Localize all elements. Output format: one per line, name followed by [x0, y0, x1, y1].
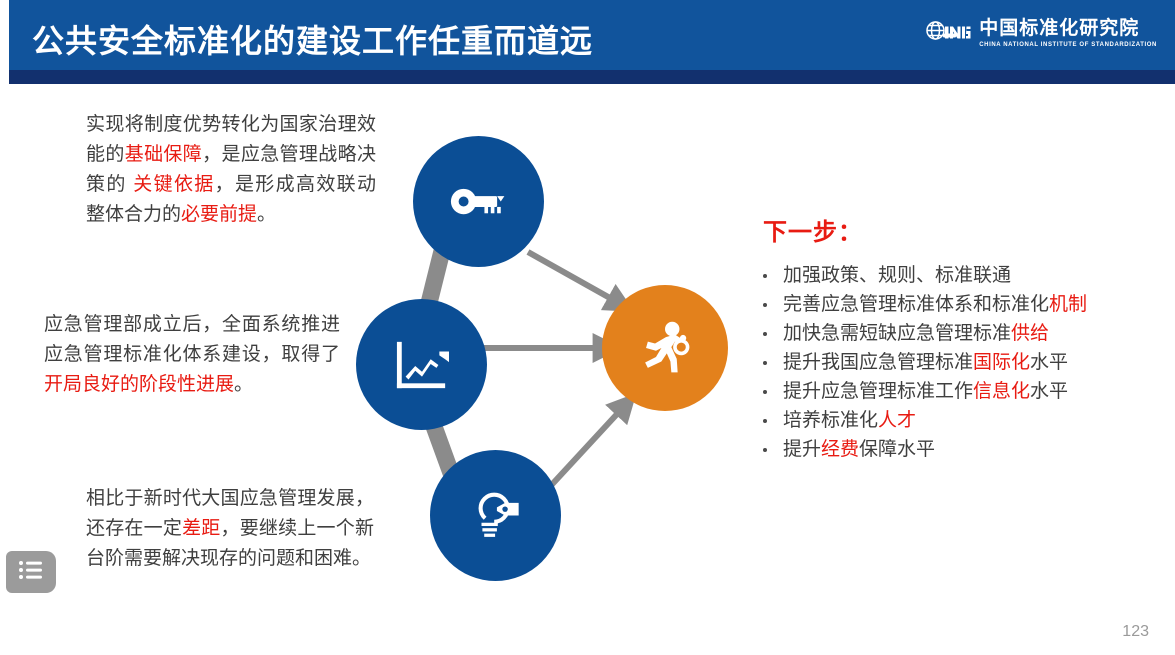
highlighted-text: 人才 — [878, 410, 916, 431]
growth-chart-icon — [393, 338, 451, 392]
plain-text: 。 — [234, 374, 253, 395]
list-item: 培养标准化人才 — [755, 406, 1165, 435]
process-diagram — [330, 100, 770, 620]
plain-text: 提升 — [783, 439, 821, 460]
key-icon — [450, 187, 508, 216]
highlighted-text: 基础保障 — [125, 144, 202, 165]
logo-english-name: CHINA NATIONAL INSTITUTE OF STANDARDIZAT… — [979, 42, 1157, 48]
lightbulb-tag-icon — [467, 489, 525, 542]
plain-text: 应急管理部成立后，全面系统推进应急管理标准化体系建设，取得了 — [44, 314, 340, 365]
next-steps-list: 加强政策、规则、标准联通完善应急管理标准体系和标准化机制加快急需短缺应急管理标准… — [755, 261, 1165, 464]
next-steps-heading: 下一步： — [763, 212, 1165, 247]
text-block-progress: 应急管理部成立后，全面系统推进应急管理标准化体系建设，取得了开局良好的阶段性进展… — [44, 310, 340, 400]
page-number: 123 — [1122, 623, 1149, 641]
plain-text: 完善应急管理标准体系和标准化 — [783, 294, 1049, 315]
plain-text: 加快急需短缺应急管理标准 — [783, 323, 1011, 344]
node-growth-chart[interactable] — [356, 299, 487, 430]
list-item: 提升我国应急管理标准国际化水平 — [755, 348, 1165, 377]
plain-text: 加强政策、规则、标准联通 — [783, 265, 1011, 286]
plain-text: 提升我国应急管理标准 — [783, 352, 973, 373]
page-title: 公共安全标准化的建设工作任重而道远 — [32, 16, 593, 62]
plain-text: 。 — [257, 204, 276, 225]
highlighted-text: 开局良好的阶段性进展 — [44, 374, 234, 395]
highlighted-text: 国际化 — [973, 352, 1030, 373]
running-person-icon — [636, 320, 694, 376]
list-item: 提升应急管理标准工作信息化水平 — [755, 377, 1165, 406]
list-item: 完善应急管理标准体系和标准化机制 — [755, 290, 1165, 319]
list-menu-button[interactable] — [6, 551, 56, 593]
plain-text: 水平 — [1030, 381, 1068, 402]
list-item: 加快急需短缺应急管理标准供给 — [755, 319, 1165, 348]
node-key[interactable] — [413, 136, 544, 267]
plain-text: 提升应急管理标准工作 — [783, 381, 973, 402]
header-left-edge — [0, 0, 9, 84]
highlighted-text: 机制 — [1049, 294, 1087, 315]
plain-text: 保障水平 — [859, 439, 935, 460]
node-lightbulb[interactable] — [430, 450, 561, 581]
highlighted-text: 信息化 — [973, 381, 1030, 402]
highlighted-text: 供给 — [1011, 323, 1049, 344]
plain-text: 培养标准化 — [783, 410, 878, 431]
logo-chinese-name: 中国标准化研究院 — [979, 19, 1157, 38]
header-underbar — [9, 70, 1175, 84]
highlighted-text: 经费 — [821, 439, 859, 460]
highlighted-text: 关键依据 — [133, 174, 214, 195]
highlighted-text: 必要前提 — [181, 204, 257, 225]
slide-header: 公共安全标准化的建设工作任重而道远 — [0, 0, 1175, 84]
organization-logo: 中国标准化研究院 CHINA NATIONAL INSTITUTE OF STA… — [925, 18, 1157, 48]
plain-text: 水平 — [1030, 352, 1068, 373]
list-menu-icon — [18, 560, 44, 585]
cnis-globe-icon — [925, 18, 971, 48]
next-steps-panel: 下一步： 加强政策、规则、标准联通完善应急管理标准体系和标准化机制加快急需短缺应… — [755, 212, 1165, 464]
highlighted-text: 差距 — [182, 518, 220, 539]
slide: 公共安全标准化的建设工作任重而道远 — [0, 0, 1175, 655]
node-running-person[interactable] — [602, 285, 728, 411]
list-item: 提升经费保障水平 — [755, 435, 1165, 464]
list-item: 加强政策、规则、标准联通 — [755, 261, 1165, 290]
logo-text: 中国标准化研究院 CHINA NATIONAL INSTITUTE OF STA… — [979, 19, 1157, 48]
